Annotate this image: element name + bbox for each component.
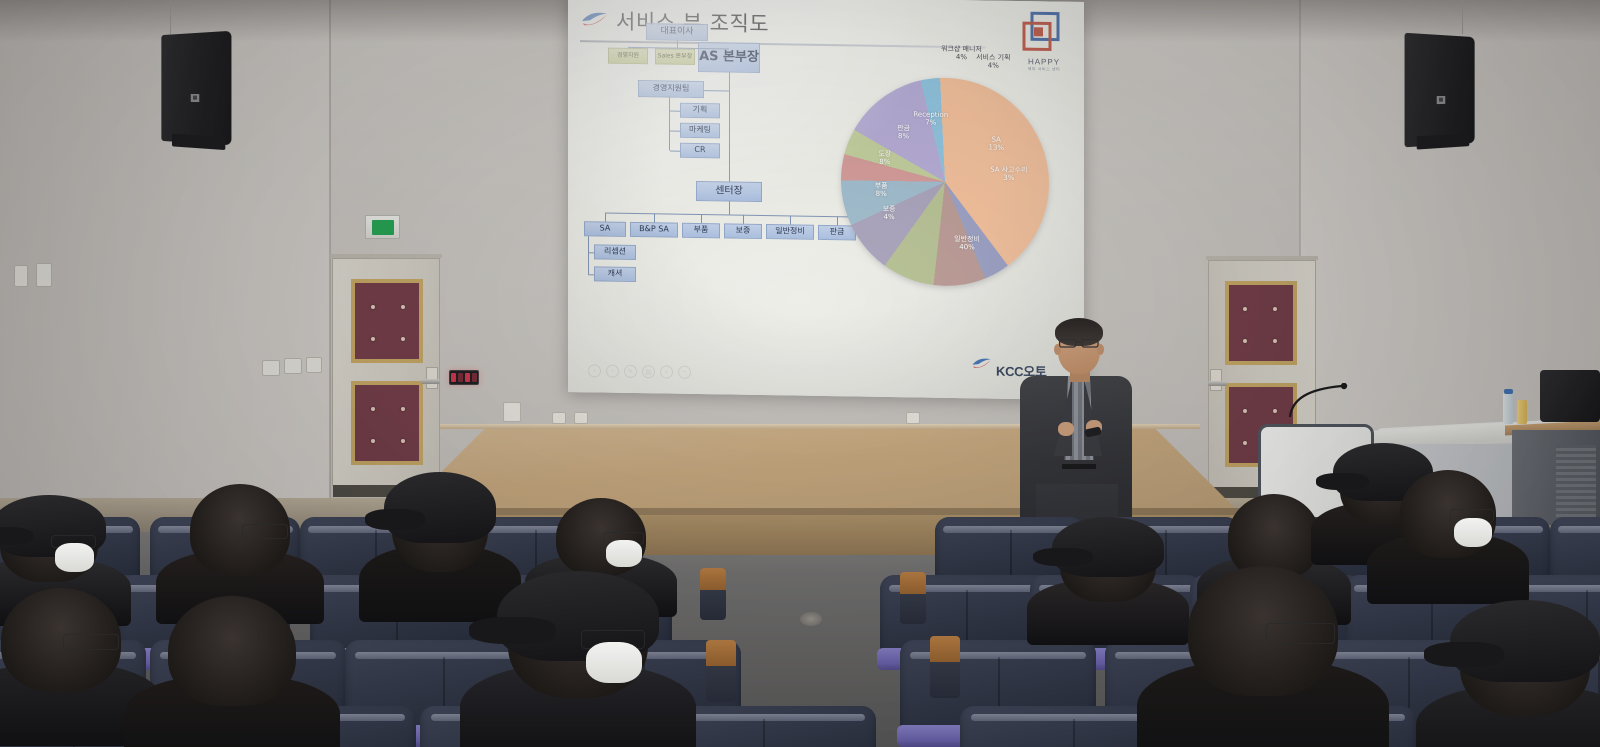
prev-icon[interactable]: ‹: [588, 364, 601, 377]
wall-outlet[interactable]: [574, 412, 588, 424]
pie-label-name: SA: [992, 136, 1001, 144]
org-node-label: 캐셔: [608, 270, 623, 279]
glasses-icon: [63, 634, 118, 651]
cap-brim: [1316, 473, 1369, 490]
pie-label-2: SA13%: [962, 135, 1030, 152]
water-bottle-cap: [1504, 389, 1513, 394]
audience-member: [1, 588, 121, 692]
cap-brim: [1033, 548, 1093, 566]
face-mask: [586, 642, 642, 683]
seat-divider: [1010, 530, 1012, 580]
audience-member: [1400, 470, 1496, 558]
audience-member: [1060, 520, 1156, 602]
presentation-slide: 서비스 부 조직도 HAPPY 해피 서비스 센터 대표이사경영지원Sales …: [568, 0, 1084, 400]
audience-member: [1188, 566, 1338, 696]
org-connector: [729, 72, 730, 181]
face-mask: [1454, 518, 1492, 548]
speaker-wire-left: [170, 0, 171, 34]
beverage-bottle[interactable]: [1517, 400, 1527, 424]
org-node-sales: Sales 본부장: [655, 48, 695, 65]
org-node-label: 보증: [736, 227, 751, 236]
pie-chart: 워크샵 매니저4%서비스 기획4%SA13%SA 사고수리3%일반정비40%보증…: [823, 50, 1061, 316]
presenter: [1012, 318, 1140, 536]
org-node-cashier: 캐셔: [594, 266, 636, 282]
pie-label-value: 40%: [933, 242, 1001, 251]
pie-label-value: 4%: [855, 213, 923, 222]
org-connector: [670, 150, 680, 151]
org-node-label: AS 본부장: [699, 50, 759, 65]
seat-armrest: [706, 640, 736, 702]
org-node-ceo: 대표이사: [646, 23, 708, 41]
org-connector: [790, 215, 791, 224]
floor-drain-cover: [800, 612, 822, 626]
wall-outlet[interactable]: [262, 360, 280, 376]
seat-armrest: [700, 568, 726, 620]
pie-label-value: 8%: [847, 190, 915, 199]
pie-label-1: 서비스 기획4%: [959, 53, 1027, 70]
org-node-center: 센터장: [696, 181, 762, 202]
light-switch-plate[interactable]: [14, 265, 28, 287]
org-node-mkt: 마케팅: [680, 123, 720, 139]
projection-screen: 서비스 부 조직도 HAPPY 해피 서비스 센터 대표이사경영지원Sales …: [568, 0, 1084, 400]
door-panel-upper: [1225, 281, 1297, 365]
glasses-icon: [242, 524, 288, 539]
seat-divider: [763, 719, 765, 747]
org-connector: [588, 236, 589, 274]
pie-label-name: 도장: [878, 150, 891, 158]
face-mask: [55, 543, 94, 572]
laptop-bag: [1540, 370, 1600, 422]
org-node-mgmt: 경영지원: [608, 48, 648, 65]
org-node-mgmt_team: 경영지원팀: [638, 80, 704, 98]
presenter-belt: [1062, 464, 1096, 469]
org-chart: 대표이사경영지원Sales 본부장AS 본부장경영지원팀기획마케팅CR센터장SA…: [568, 0, 1084, 2]
slide-control-bar[interactable]: ‹›✎▤⌕−: [588, 364, 691, 379]
light-switch-plate[interactable]: [36, 263, 52, 287]
pie-label-name: 서비스 기획: [976, 54, 1010, 63]
pie-label-value: 3%: [975, 173, 1043, 182]
org-node-warranty: 보증: [724, 223, 762, 239]
pie-label-9: Reception7%: [897, 110, 965, 127]
glasses-icon: [1059, 339, 1099, 348]
audience-member: [190, 484, 290, 576]
armrest-wood-top: [700, 568, 726, 590]
led-digit: [458, 373, 463, 382]
org-connector: [701, 214, 702, 223]
org-connector: [588, 252, 594, 253]
led-digit: [451, 373, 456, 382]
org-node-label: 마케팅: [689, 126, 711, 135]
pie-label-value: 8%: [870, 131, 938, 140]
org-node-reception: 리셉션: [594, 244, 636, 260]
org-node-label: 부품: [694, 226, 709, 235]
audience-member: [0, 498, 98, 582]
wall-outlet[interactable]: [906, 412, 920, 424]
org-node-sa: SA: [584, 221, 626, 237]
armrest-wood-top: [706, 640, 736, 666]
speaker-badge-icon: ▦: [1437, 95, 1446, 103]
wall-speaker-left: ▦: [161, 31, 231, 146]
cap-brim: [1424, 642, 1505, 667]
wall-outlet[interactable]: [503, 402, 521, 422]
next-icon[interactable]: ›: [606, 365, 619, 378]
speaker-badge-icon: ▦: [191, 93, 200, 101]
org-connector: [628, 47, 629, 48]
org-node-label: CR: [694, 146, 705, 155]
org-node-general: 일반정비: [766, 224, 814, 240]
org-connector: [729, 201, 730, 214]
pen-icon[interactable]: ✎: [624, 365, 637, 378]
pie-label-name: SA 사고수리: [990, 165, 1027, 174]
org-node-label: B&P SA: [639, 225, 669, 234]
org-node-plan: 기획: [680, 103, 720, 119]
org-connector: [588, 274, 594, 275]
wall-outlet[interactable]: [552, 412, 566, 424]
org-node-cr: CR: [680, 143, 720, 159]
pie-label-value: 4%: [959, 61, 1027, 70]
armrest-wood-top: [900, 572, 926, 594]
audience-member: [168, 596, 296, 706]
pie-label-name: 일반정비: [954, 235, 980, 243]
org-connector: [654, 213, 655, 222]
cap-brim: [469, 617, 556, 644]
org-connector: [605, 213, 606, 222]
pie-label-value: 8%: [851, 157, 919, 166]
glasses-icon: [1266, 623, 1335, 644]
baseball-cap: [384, 472, 495, 543]
org-node-as_head: AS 본부장: [698, 42, 760, 73]
face-mask: [606, 540, 642, 567]
gooseneck-microphone: [1286, 383, 1348, 419]
presenter-hand-left: [1058, 422, 1074, 436]
wall-outlet[interactable]: [306, 357, 322, 373]
baseball-cap: [1450, 600, 1600, 683]
door-left[interactable]: [332, 258, 440, 486]
wall-seam-left: [329, 0, 331, 505]
zoom-icon[interactable]: ⌕: [660, 365, 673, 378]
org-node-label: 경영지원팀: [653, 85, 690, 94]
org-node-label: 기획: [693, 106, 708, 115]
pie-label-value: 7%: [897, 118, 965, 127]
speaker-wire-right: [1462, 0, 1463, 34]
door-panel-lower: [351, 381, 423, 465]
org-node-label: 센터장: [715, 186, 743, 197]
auditorium-scene: ▦ ▦ 서비스 부 조직도 HAPPY: [0, 0, 1600, 747]
pie-label-value: 13%: [962, 143, 1030, 152]
pie-label-7: 도장8%: [851, 149, 919, 166]
audience-member: [508, 576, 648, 698]
wall-speaker-right: ▦: [1405, 33, 1475, 148]
rack-vent-grille: [1556, 445, 1596, 519]
cap-brim: [365, 509, 425, 530]
org-node-label: 일반정비: [775, 227, 804, 236]
wall-outlet[interactable]: [284, 358, 302, 374]
org-connector: [704, 90, 729, 91]
seat-armrest: [900, 572, 926, 624]
audience-member: [1460, 604, 1590, 716]
save-icon[interactable]: ▤: [642, 365, 655, 378]
led-digit: [465, 373, 470, 382]
pie-label-3: SA 사고수리3%: [975, 165, 1043, 182]
org-node-label: 대표이사: [660, 27, 693, 37]
org-connector: [670, 110, 680, 111]
org-node-label: Sales 본부장: [658, 53, 692, 60]
door-handle[interactable]: [421, 379, 440, 384]
wall-led-clock: [449, 370, 479, 385]
exit-running-man-icon: [372, 220, 394, 235]
pie-label-5: 보증4%: [855, 205, 923, 222]
org-node-parts: 부품: [682, 223, 720, 239]
seat-divider: [1165, 530, 1167, 580]
org-node-label: SA: [600, 225, 611, 234]
door-lock-plate: [1210, 369, 1222, 391]
seat-back-band: [1558, 526, 1600, 533]
org-connector: [675, 48, 676, 49]
seat-armrest: [930, 636, 960, 698]
org-node-bpsa: B&P SA: [630, 222, 678, 238]
door-panel-upper: [351, 279, 423, 363]
org-node-label: 경영지원: [617, 53, 639, 60]
org-connector: [677, 41, 678, 48]
minus-icon[interactable]: −: [678, 366, 691, 379]
kcc-auto-logo-mark: [970, 355, 994, 371]
emergency-exit-sign: [365, 215, 400, 239]
pie-label-4: 일반정비40%: [933, 234, 1001, 251]
water-bottle[interactable]: [1503, 392, 1514, 424]
armrest-wood-top: [930, 636, 960, 662]
door-lock-plate: [426, 367, 438, 389]
seat-divider: [1073, 719, 1075, 747]
kcc-swoosh-logo: [580, 8, 610, 30]
pie-label-6: 부품8%: [847, 182, 915, 199]
audience-member: [556, 498, 646, 576]
org-connector: [669, 98, 670, 151]
audience-member: [392, 476, 488, 572]
door-handle[interactable]: [1208, 381, 1227, 386]
org-connector: [743, 215, 744, 224]
org-node-label: 리셉션: [604, 248, 626, 257]
led-digit: [472, 373, 477, 382]
pie-label-name: 워크샵 매니저: [941, 45, 982, 54]
org-connector: [670, 130, 680, 131]
audience-hair: [168, 596, 296, 706]
